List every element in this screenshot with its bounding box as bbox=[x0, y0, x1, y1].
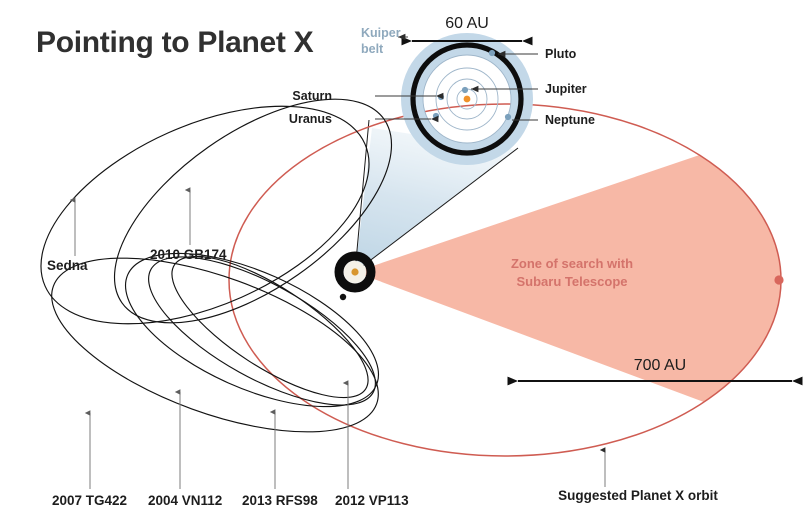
planet-dot-jupiter bbox=[462, 87, 468, 93]
planet-dot-saturn bbox=[438, 94, 444, 100]
object-label-2010-gb174: 2010 GB174 bbox=[150, 247, 227, 262]
scale-label-60au: 60 AU bbox=[445, 15, 489, 32]
object-label-sedna: Sedna bbox=[47, 258, 88, 273]
planet-label-jupiter: Jupiter bbox=[545, 82, 587, 96]
object-label-2012-vp113: 2012 VP113 bbox=[335, 493, 409, 508]
planet-x-orbit-caption: Suggested Planet X orbit bbox=[558, 488, 718, 503]
planet-label-saturn: Saturn bbox=[292, 89, 332, 103]
search-zone-label-line1: Zone of search with bbox=[511, 256, 633, 271]
planet-dot-pluto bbox=[489, 50, 495, 56]
figure-root: Pointing to Planet X 60 AU Kuiper belt S… bbox=[0, 0, 811, 531]
diagram-svg: Pointing to Planet X 60 AU Kuiper belt S… bbox=[0, 0, 811, 531]
planet-dot-neptune bbox=[505, 114, 511, 120]
page-title: Pointing to Planet X bbox=[36, 26, 314, 59]
planet-label-neptune: Neptune bbox=[545, 113, 595, 127]
planet-dot-uranus bbox=[433, 113, 439, 119]
object-label-2004-vn112: 2004 VN112 bbox=[148, 493, 222, 508]
sun-dot-inset bbox=[464, 96, 471, 103]
search-zone-label-line2: Subaru Telescope bbox=[516, 274, 627, 289]
sun-dot-main bbox=[351, 268, 358, 275]
scale-label-700au: 700 AU bbox=[634, 357, 686, 374]
object-label-leaders bbox=[75, 190, 348, 489]
kuiper-belt-label-line2: belt bbox=[361, 42, 384, 56]
orbit-sedna bbox=[9, 62, 402, 369]
perihelion-dot bbox=[340, 294, 346, 300]
planet-x-marker bbox=[774, 275, 783, 284]
kuiper-belt-label-line1: Kuiper bbox=[361, 26, 401, 40]
inset-solar-system bbox=[412, 44, 522, 154]
planet-label-uranus: Uranus bbox=[289, 112, 332, 126]
object-label-2013-rfs98: 2013 RFS98 bbox=[242, 493, 318, 508]
sun-center-group bbox=[339, 256, 371, 300]
object-label-2007-tg422: 2007 TG422 bbox=[52, 493, 127, 508]
planet-label-pluto: Pluto bbox=[545, 47, 577, 61]
